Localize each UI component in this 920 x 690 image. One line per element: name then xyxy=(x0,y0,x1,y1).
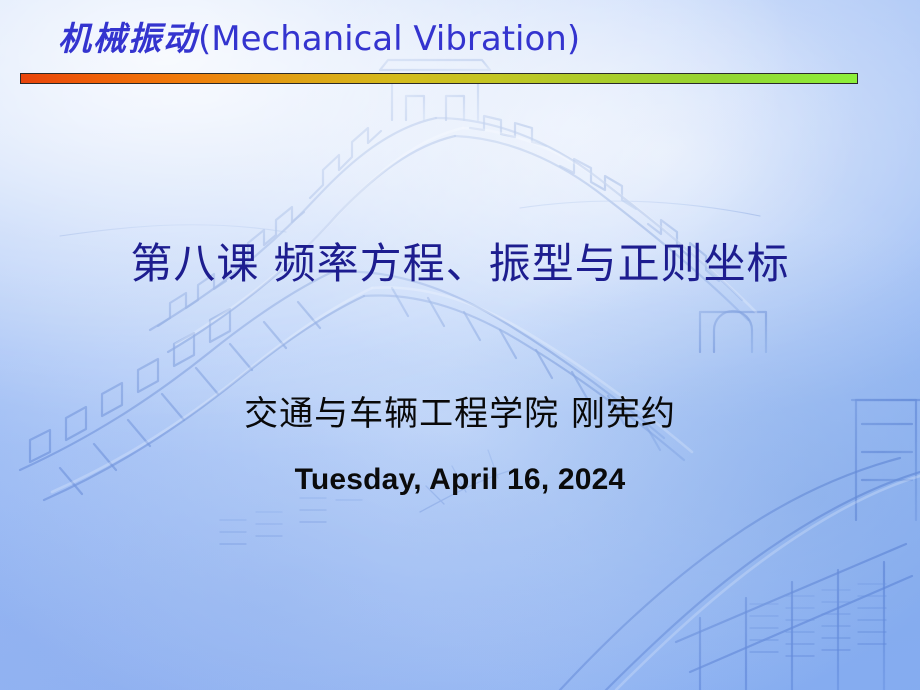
date-label: Tuesday, April 16, 2024 xyxy=(0,463,920,497)
course-title: 机械振动(Mechanical Vibration) xyxy=(58,22,580,56)
course-title-en: (Mechanical Vibration) xyxy=(198,19,580,59)
slide-background-veil xyxy=(0,0,920,690)
presentation-slide: 机械振动(Mechanical Vibration) 第八课 频率方程、振型与正… xyxy=(0,0,920,690)
slide-background-haze xyxy=(0,0,920,690)
course-title-cn: 机械振动 xyxy=(58,19,198,58)
great-wall-sketch-highlights xyxy=(0,0,920,690)
presenter-affiliation: 交通与车辆工程学院 刚宪约 xyxy=(0,386,920,435)
great-wall-sketch-artwork xyxy=(0,0,920,690)
slide-header: 机械振动(Mechanical Vibration) xyxy=(0,0,920,96)
gradient-rule xyxy=(20,73,858,84)
page-title: 第八课 频率方程、振型与正则坐标 xyxy=(0,240,920,288)
slide-background-wash xyxy=(0,0,920,690)
